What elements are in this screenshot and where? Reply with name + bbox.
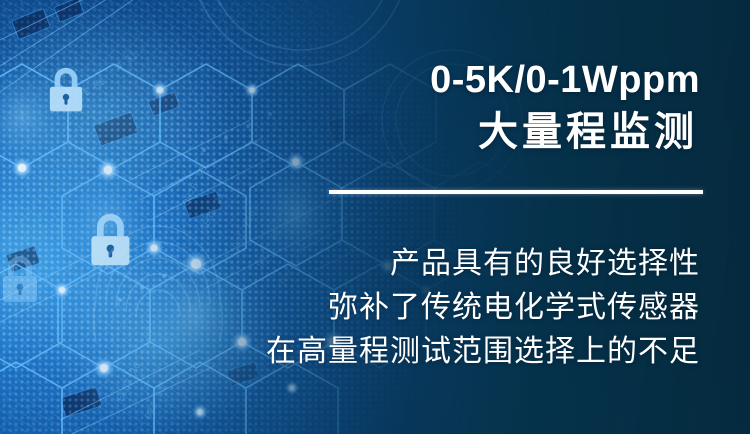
headline-block: 0-5K/0-1Wppm 大量程监测 <box>430 58 700 156</box>
banner-content: 0-5K/0-1Wppm 大量程监测 产品具有的良好选择性 弥补了传统电化学式传… <box>0 0 750 434</box>
subtitle-line-1: 产品具有的良好选择性 <box>266 242 700 286</box>
subtitle-line-2: 弥补了传统电化学式传感器 <box>266 286 700 330</box>
headline-line-2: 大量程监测 <box>430 108 700 156</box>
headline-line-1: 0-5K/0-1Wppm <box>430 58 700 102</box>
subtitle-block: 产品具有的良好选择性 弥补了传统电化学式传感器 在高量程测试范围选择上的不足 <box>266 242 700 374</box>
headline-divider <box>329 190 703 194</box>
product-banner: 0R26 3EE SE33 21 801 2103 BE12 80 3E0 22… <box>0 0 750 434</box>
subtitle-line-3: 在高量程测试范围选择上的不足 <box>266 330 700 374</box>
